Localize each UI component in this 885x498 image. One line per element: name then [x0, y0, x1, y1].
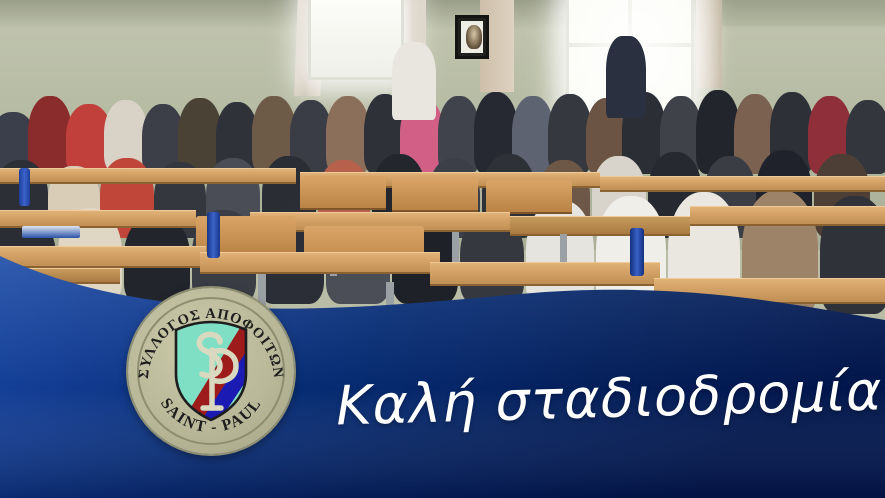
- notebook: [22, 226, 80, 238]
- saint-paul-alumni-logo: ΣΥΛΛΟΓΟΣ ΑΠΟΦΟΙΤΩΝ SAINT - PAUL: [128, 288, 294, 454]
- framed-portrait: [455, 15, 489, 59]
- slogan-text: Καλή σταδιοδρομία!: [335, 361, 807, 437]
- curtain-right: [696, 0, 722, 88]
- banner-image: ΣΥΛΛΟΓΟΣ ΑΠΟΦΟΙΤΩΝ SAINT - PAUL Καλή στα…: [0, 0, 885, 498]
- water-bottle-left: [19, 168, 30, 206]
- portrait-face: [466, 25, 482, 49]
- window-left: [308, 0, 404, 80]
